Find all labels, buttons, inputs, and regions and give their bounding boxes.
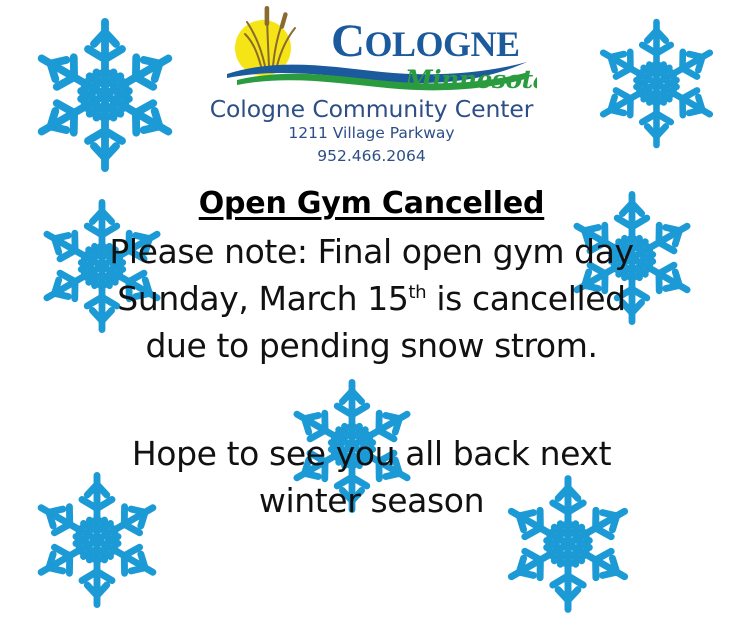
content-layer: COLOGNE Minnesota Cologne Community Cent…	[0, 0, 743, 624]
cologne-logo-block: COLOGNE Minnesota Cologne Community Cent…	[0, 4, 743, 167]
notice-date-prefix: Sunday, March 15	[117, 279, 408, 318]
cologne-logo-mark: COLOGNE Minnesota	[207, 4, 537, 100]
notice-line-2: Sunday, March 15th is cancelled	[0, 275, 743, 322]
logo-state-word: Minnesota	[404, 65, 537, 94]
closing-line-2: winter season	[0, 477, 743, 524]
notice-date-ordinal: th	[408, 282, 426, 303]
center-address: 1211 Village Parkway	[0, 122, 743, 144]
page-title: Open Gym Cancelled	[0, 186, 743, 221]
closing-message: Hope to see you all back next winter sea…	[0, 430, 743, 524]
closing-line-1: Hope to see you all back next	[0, 430, 743, 477]
logo-wordmark: COLOGNE	[331, 15, 519, 67]
flyer-canvas: COLOGNE Minnesota Cologne Community Cent…	[0, 0, 743, 624]
notice-line-3: due to pending snow strom.	[0, 322, 743, 369]
cancellation-notice: Please note: Final open gym day Sunday, …	[0, 228, 743, 370]
notice-line-1: Please note: Final open gym day	[0, 228, 743, 275]
center-phone: 952.466.2064	[0, 145, 743, 167]
page-title-text: Open Gym Cancelled	[199, 186, 545, 221]
notice-date-suffix: is cancelled	[426, 279, 625, 318]
